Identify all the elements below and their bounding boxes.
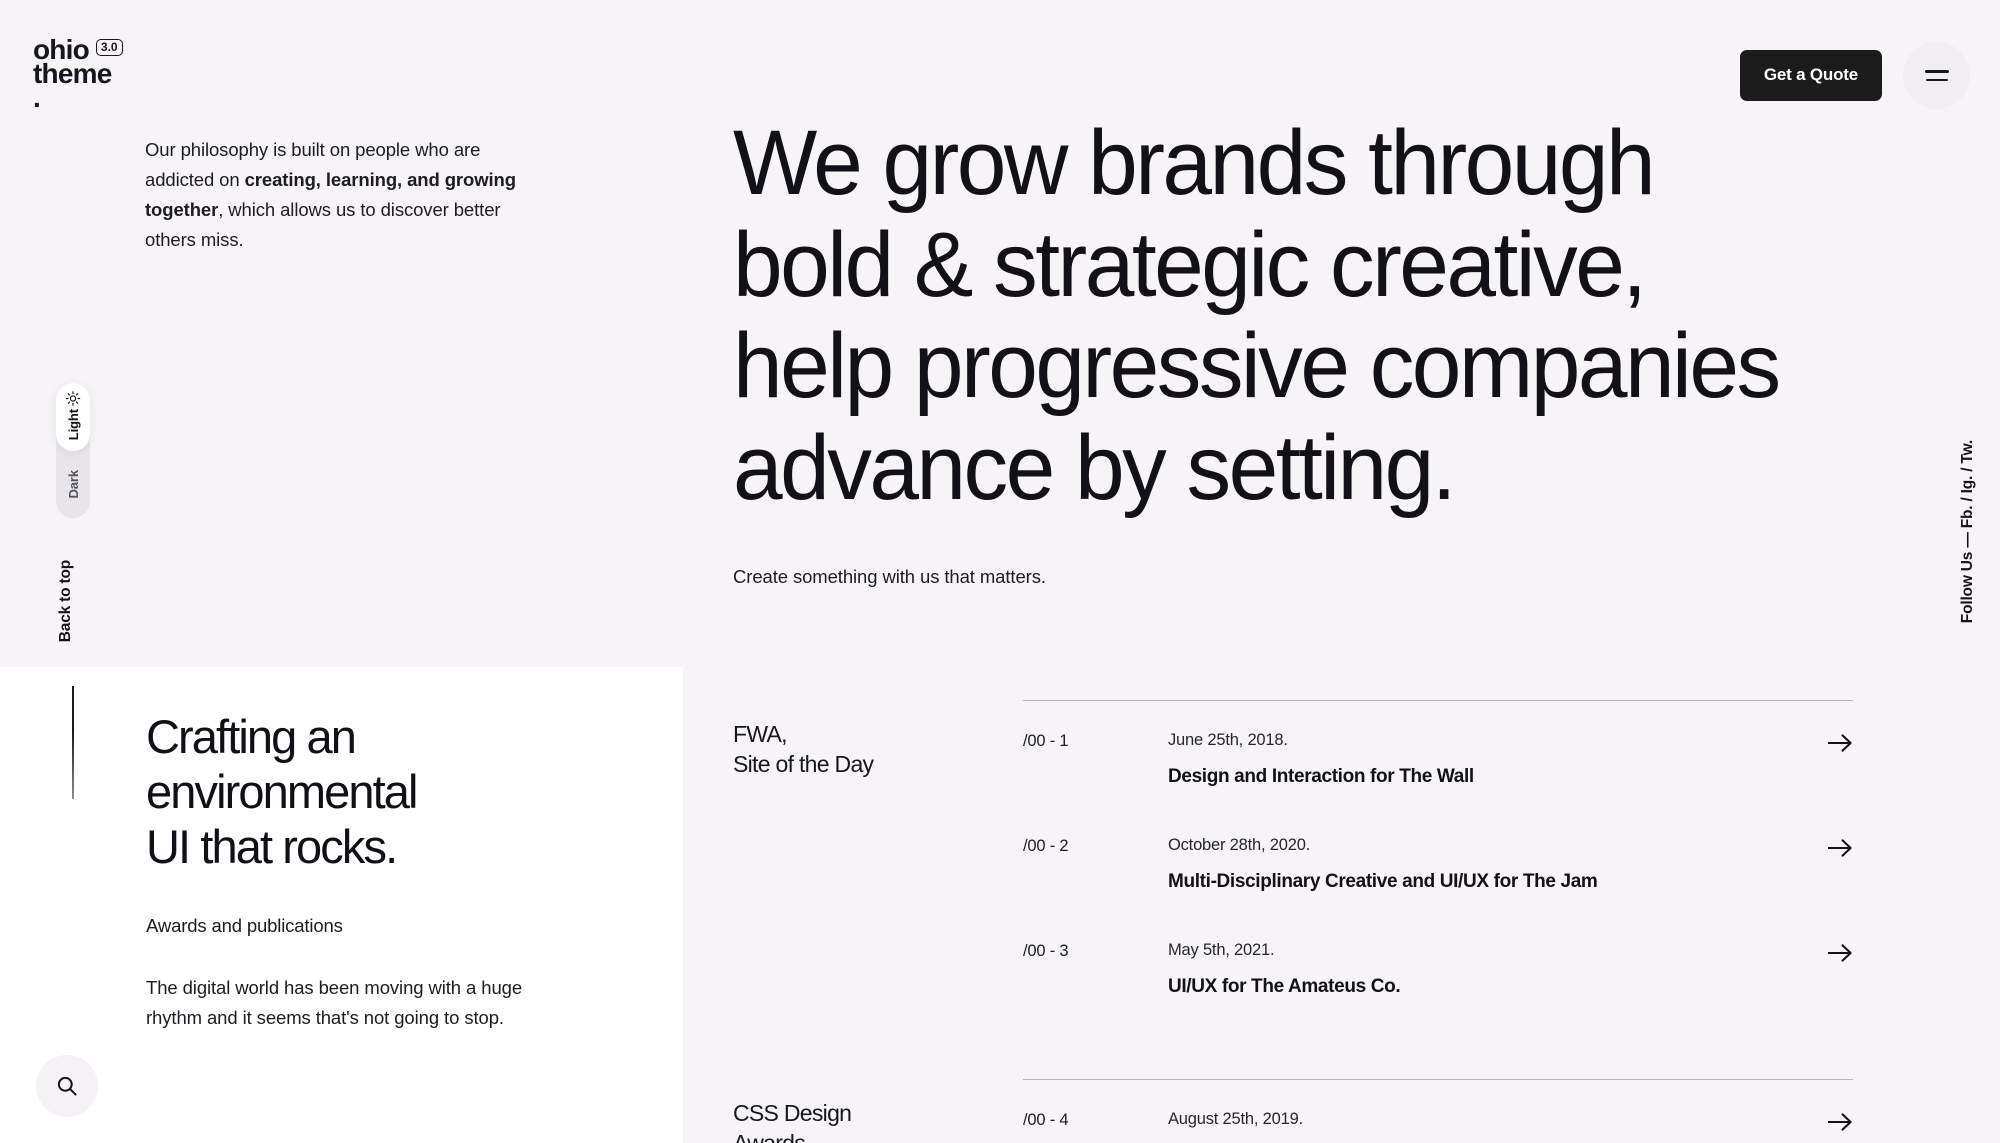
arrow-right-icon bbox=[1827, 943, 1853, 963]
hero-headline: We grow brands through bold & strategic … bbox=[733, 113, 1819, 520]
search-button[interactable] bbox=[36, 1055, 98, 1117]
crafting-body-text: The digital world has been moving with a… bbox=[146, 973, 566, 1033]
hero-section: We grow brands through bold & strategic … bbox=[733, 113, 1853, 588]
hamburger-icon-line-bottom bbox=[1926, 79, 1948, 82]
theme-option-dark-label: Dark bbox=[66, 470, 81, 499]
hamburger-icon-line-top bbox=[1925, 70, 1949, 73]
crafting-heading: Crafting an environmental UI that rocks. bbox=[146, 710, 616, 875]
theme-option-light[interactable]: Light bbox=[56, 383, 90, 451]
award-row[interactable]: /00 - 1 June 25th, 2018. Design and Inte… bbox=[1023, 709, 1853, 814]
site-header: ohio 3.0 theme. Get a Quote bbox=[0, 0, 2000, 140]
philosophy-paragraph: Our philosophy is built on people who ar… bbox=[145, 135, 545, 255]
award-date: October 28th, 2020. bbox=[1168, 836, 1813, 855]
award-main: May 5th, 2021. UI/UX for The Amateus Co. bbox=[1168, 941, 1813, 998]
award-date: May 5th, 2021. bbox=[1168, 941, 1813, 960]
crafting-section: Crafting an environmental UI that rocks.… bbox=[146, 710, 616, 1033]
arrow-right-icon bbox=[1827, 733, 1853, 753]
sun-icon bbox=[66, 391, 81, 406]
award-arrow-link[interactable] bbox=[1813, 941, 1853, 963]
award-main: October 28th, 2020. Multi-Disciplinary C… bbox=[1168, 836, 1813, 893]
award-date: August 25th, 2019. bbox=[1168, 1110, 1813, 1129]
logo-version-badge: 3.0 bbox=[96, 39, 123, 56]
left-rail-vertical-line bbox=[72, 686, 74, 799]
award-row[interactable]: /00 - 2 October 28th, 2020. Multi-Discip… bbox=[1023, 814, 1853, 919]
get-a-quote-button[interactable]: Get a Quote bbox=[1740, 50, 1882, 101]
arrow-right-icon bbox=[1827, 1112, 1853, 1132]
award-title: Multi-Disciplinary Creative and UI/UX fo… bbox=[1168, 871, 1813, 893]
award-index: /00 - 2 bbox=[1023, 836, 1168, 856]
award-group: CSS Design Awards /00 - 4 August 25th, 2… bbox=[733, 1079, 1853, 1143]
logo-dot: . bbox=[33, 82, 40, 113]
crafting-eyebrow: Awards and publications bbox=[146, 915, 616, 937]
awards-list: FWA, Site of the Day /00 - 1 June 25th, … bbox=[733, 700, 1853, 1143]
award-main: August 25th, 2019. Design and Interactio… bbox=[1168, 1110, 1813, 1143]
logo-word-theme: theme bbox=[33, 62, 123, 86]
follow-us-links[interactable]: Follow Us — Fb. / Ig. / Tw. bbox=[1959, 440, 1977, 623]
award-date: June 25th, 2018. bbox=[1168, 731, 1813, 750]
award-arrow-link[interactable] bbox=[1813, 1110, 1853, 1132]
award-arrow-link[interactable] bbox=[1813, 731, 1853, 753]
award-main: June 25th, 2018. Design and Interaction … bbox=[1168, 731, 1813, 788]
award-row[interactable]: /00 - 3 May 5th, 2021. UI/UX for The Ama… bbox=[1023, 919, 1853, 1024]
award-group: FWA, Site of the Day /00 - 1 June 25th, … bbox=[733, 700, 1853, 1024]
hero-subtitle: Create something with us that matters. bbox=[733, 566, 1853, 588]
award-arrow-link[interactable] bbox=[1813, 836, 1853, 858]
award-index: /00 - 4 bbox=[1023, 1110, 1168, 1130]
award-group-label: FWA, Site of the Day bbox=[733, 720, 983, 780]
award-group-label: CSS Design Awards bbox=[733, 1099, 983, 1143]
award-row[interactable]: /00 - 4 August 25th, 2019. Design and In… bbox=[1023, 1088, 1853, 1143]
award-index: /00 - 3 bbox=[1023, 941, 1168, 961]
theme-option-light-label: Light bbox=[66, 409, 81, 440]
hamburger-menu-button[interactable] bbox=[1903, 42, 1970, 109]
search-icon bbox=[55, 1074, 79, 1098]
theme-toggle[interactable]: Light Dark bbox=[56, 383, 90, 518]
award-group-rows: /00 - 4 August 25th, 2019. Design and In… bbox=[1023, 1079, 1853, 1143]
award-title: UI/UX for The Amateus Co. bbox=[1168, 976, 1813, 998]
award-group-rows: /00 - 1 June 25th, 2018. Design and Inte… bbox=[1023, 700, 1853, 1024]
site-logo[interactable]: ohio 3.0 theme. bbox=[33, 38, 123, 110]
arrow-right-icon bbox=[1827, 838, 1853, 858]
back-to-top-link[interactable]: Back to top bbox=[57, 560, 75, 642]
award-title: Design and Interaction for The Wall bbox=[1168, 766, 1813, 788]
theme-option-dark[interactable]: Dark bbox=[56, 451, 90, 519]
award-index: /00 - 1 bbox=[1023, 731, 1168, 751]
